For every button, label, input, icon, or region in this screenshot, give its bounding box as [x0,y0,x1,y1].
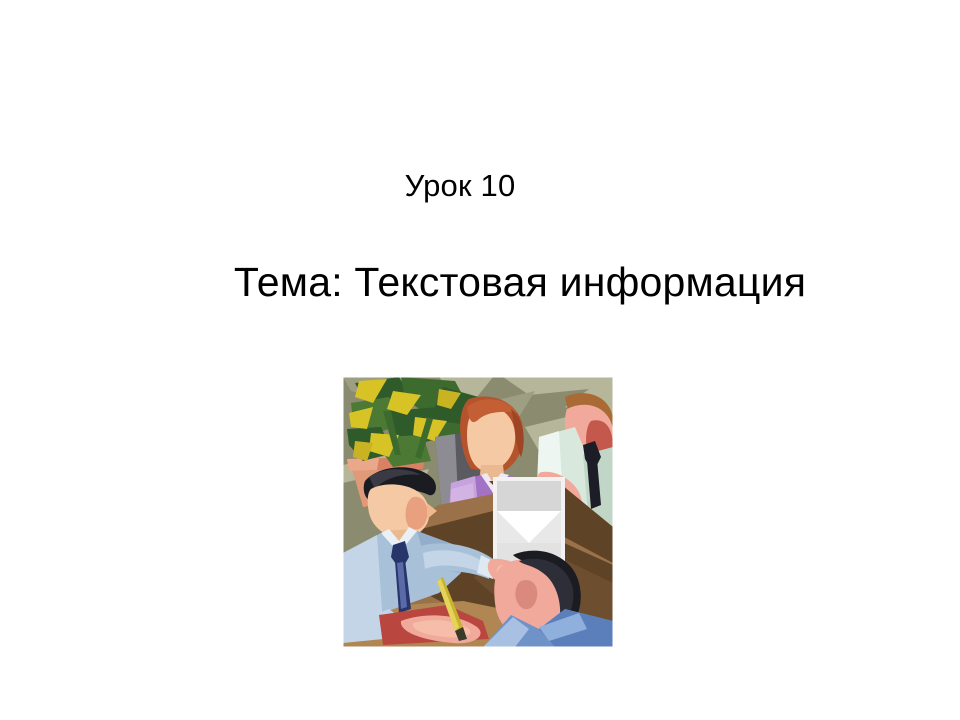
lesson-number-title: Урок 10 [0,168,920,204]
business-meeting-clipart-image [343,377,613,647]
topic-title: Тема: Текстовая информация [0,258,960,306]
slide-canvas: Урок 10 Тема: Текстовая информация [0,0,960,720]
clipart-svg [343,377,613,647]
